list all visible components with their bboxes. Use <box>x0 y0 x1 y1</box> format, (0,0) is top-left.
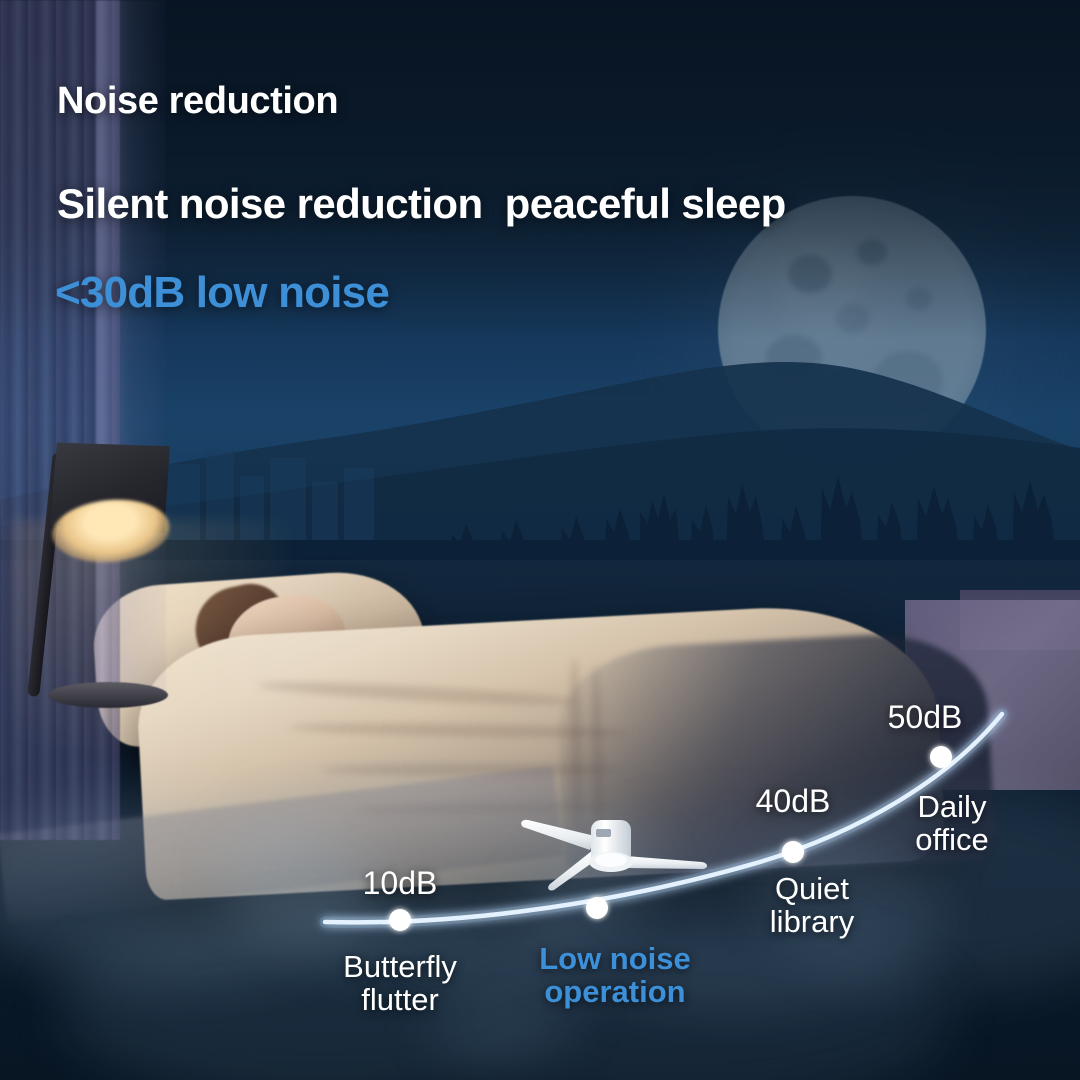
lamp-base <box>48 682 168 708</box>
chart-caption-3: Quietlibrary <box>702 872 922 939</box>
product-marketing-image: Noise reduction Silent noise reduction p… <box>0 0 1080 1080</box>
headline-text: Silent noise reduction peaceful sleep <box>57 180 786 228</box>
ceiling-fan-product <box>498 798 728 908</box>
chart-caption-4-line-2: office <box>842 823 1062 856</box>
chart-value-label-1: 10dB <box>310 866 490 901</box>
chart-caption-2-line-2: operation <box>505 975 725 1008</box>
eyebrow-text: Noise reduction <box>57 80 338 123</box>
chart-caption-4: Dailyoffice <box>842 790 1062 857</box>
chart-caption-1-line-1: Butterfly <box>290 950 510 983</box>
chart-caption-3-line-1: Quiet <box>702 872 922 905</box>
chart-caption-1-line-2: flutter <box>290 983 510 1016</box>
subline-accent-text: <30dB low noise <box>55 268 389 318</box>
chart-caption-2: Low noiseoperation <box>505 942 725 1009</box>
chart-caption-3-line-2: library <box>702 905 922 938</box>
chart-value-label-4: 50dB <box>835 700 1015 735</box>
chart-caption-4-line-1: Daily <box>842 790 1062 823</box>
chart-caption-1: Butterflyflutter <box>290 950 510 1017</box>
chart-caption-2-line-1: Low noise <box>505 942 725 975</box>
